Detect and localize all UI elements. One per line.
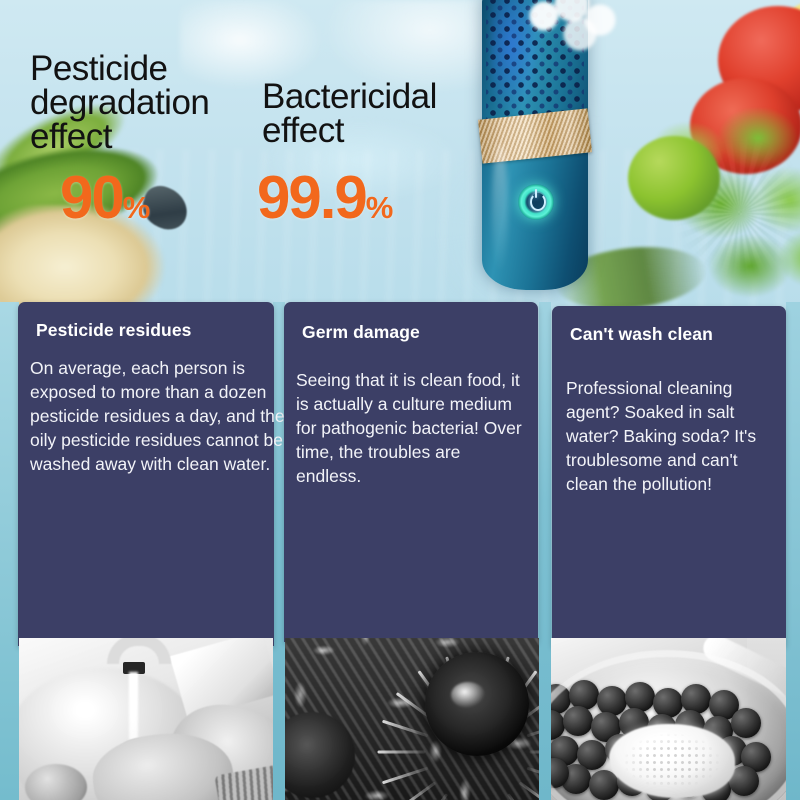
bowl-rim <box>551 650 786 800</box>
stat-label-line: effect <box>262 114 472 148</box>
photo-strip <box>0 638 800 800</box>
stat-value-pesticide: 90% <box>60 163 148 232</box>
card-title: Can't wash clean <box>570 324 786 345</box>
card-title: Pesticide residues <box>36 320 274 341</box>
stat-number: 90 <box>60 164 123 231</box>
power-button-icon[interactable] <box>518 184 554 220</box>
card-title: Germ damage <box>302 322 538 343</box>
info-card-cant-wash-clean[interactable]: Can't wash clean Professional cleaning a… <box>552 306 786 646</box>
stat-value-bactericidal: 99.9% <box>257 163 391 232</box>
photo-microscopic-germs <box>285 638 539 800</box>
foam-bubbles-icon <box>520 0 630 56</box>
faucet-icon <box>107 638 171 664</box>
info-card-pesticide-residues[interactable]: Pesticide residues On average, each pers… <box>18 302 274 646</box>
photo-washing-fruit <box>19 638 273 800</box>
green-lime-icon <box>628 136 720 220</box>
card-body: On average, each person is exposed to mo… <box>30 357 294 477</box>
photo-grapes-baking-soda <box>551 638 786 800</box>
stat-label-bactericidal: Bactericidal effect <box>262 80 472 148</box>
card-body: Seeing that it is clean food, it is actu… <box>296 369 528 489</box>
infographic-stage: Pesticide degradation effect Bactericida… <box>0 0 800 800</box>
stat-label-pesticide: Pesticide degradation effect <box>30 52 270 154</box>
card-body: Professional cleaning agent? Soaked in s… <box>566 377 782 497</box>
info-card-germ-damage[interactable]: Germ damage Seeing that it is clean food… <box>284 302 538 642</box>
stat-number: 99.9 <box>257 164 366 231</box>
stat-label-line: effect <box>30 120 270 154</box>
stat-label-line: Pesticide <box>30 52 270 86</box>
stat-label-line: degradation <box>30 86 270 120</box>
percent-symbol: % <box>123 190 149 225</box>
virus-highlight <box>451 682 485 708</box>
stat-label-line: Bactericidal <box>262 80 472 114</box>
percent-symbol: % <box>366 190 392 225</box>
device-highlight <box>492 144 508 274</box>
